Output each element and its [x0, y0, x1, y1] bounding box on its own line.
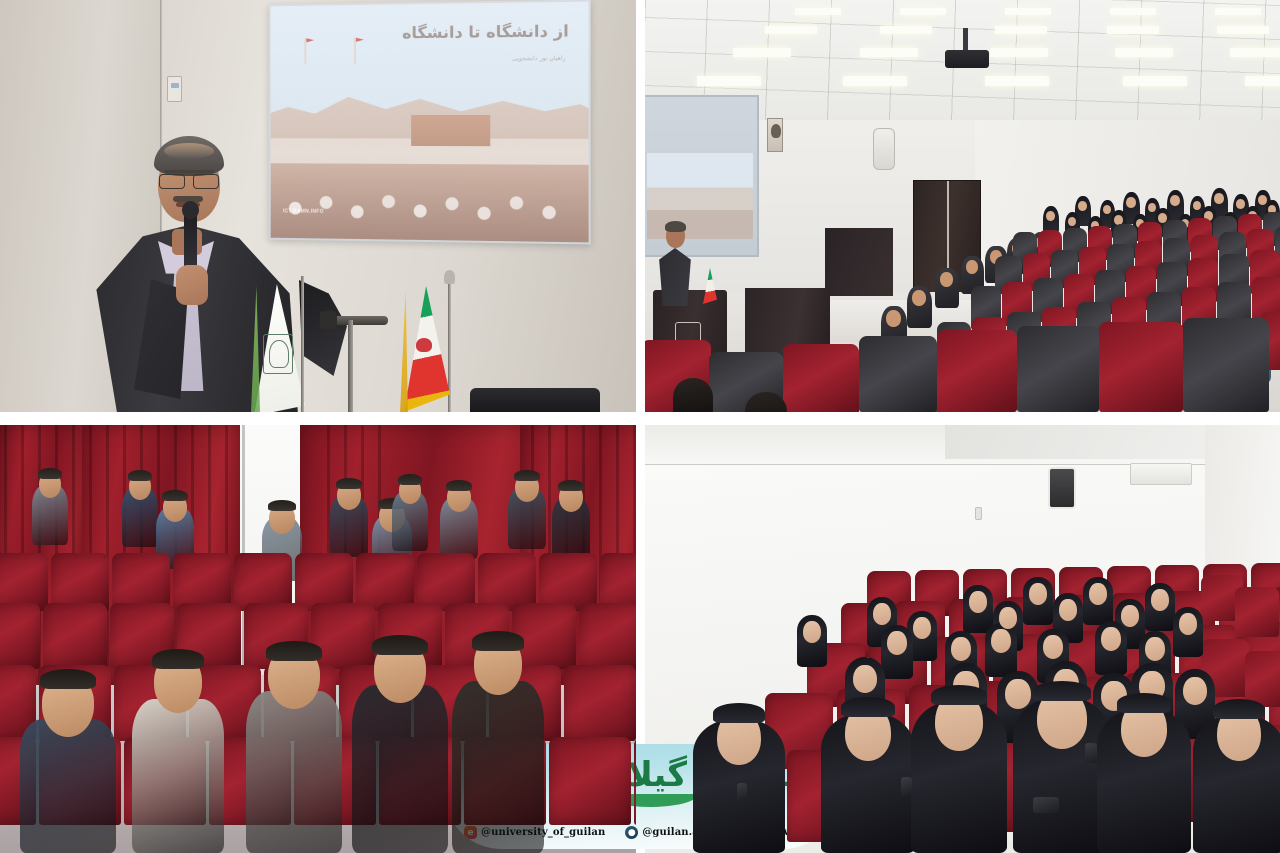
- held-object: [1033, 797, 1059, 813]
- attendee-face: [1046, 211, 1055, 221]
- attendee-hair: [266, 641, 322, 661]
- ceiling-light: [990, 48, 1048, 57]
- attendee-face: [1068, 217, 1076, 226]
- slide-flag-icon: [304, 38, 306, 64]
- attendee-face: [1193, 201, 1201, 210]
- attendee-face: [969, 591, 987, 613]
- attendee-hair: [40, 669, 96, 689]
- iran-emblem-icon: [416, 338, 432, 352]
- attendee-head: [673, 378, 713, 412]
- ceiling-light: [880, 26, 932, 34]
- attendee-hair: [336, 478, 362, 489]
- ceiling-light: [900, 8, 946, 15]
- website-icon: ●: [625, 826, 638, 839]
- ceiling-projector: [945, 50, 989, 68]
- photo-bottom-right: [645, 425, 1280, 853]
- seat: [634, 737, 636, 825]
- held-object: [1085, 743, 1097, 763]
- eyeglasses-icon: [158, 174, 220, 187]
- seat: [1235, 587, 1279, 637]
- attendee-headscarf: [841, 697, 895, 717]
- ceiling-light: [795, 8, 841, 15]
- ceiling-light: [1123, 76, 1187, 86]
- flag-pole: [301, 276, 304, 412]
- attendee-face: [1236, 199, 1245, 209]
- seat: [549, 737, 631, 825]
- wall-portrait: [767, 118, 783, 152]
- attendee-face: [873, 603, 891, 625]
- ceiling-light: [995, 26, 1047, 34]
- ceiling-light: [697, 76, 761, 86]
- ceiling-light: [765, 26, 817, 34]
- attendee-body: [452, 681, 544, 853]
- attendee-face: [1089, 583, 1107, 605]
- attendee-hair: [38, 468, 62, 479]
- attendee-face: [1148, 203, 1156, 212]
- seat: [937, 330, 1017, 412]
- slide-subtitle: راهیان نور دانشجویی: [389, 55, 566, 63]
- slide-flag-icon: [354, 38, 356, 64]
- attendee-face: [803, 621, 821, 643]
- attendee-headscarf: [1117, 693, 1171, 713]
- attendee-hair: [398, 474, 422, 485]
- attendee-headscarf: [1213, 699, 1265, 719]
- seat: [579, 603, 636, 669]
- attendee-hair: [472, 631, 524, 651]
- attendee-hair: [446, 480, 472, 491]
- attendee-body: [132, 699, 224, 853]
- wall-sensor: [975, 507, 982, 520]
- seat: [783, 344, 859, 412]
- photo-top-right: [645, 0, 1280, 412]
- wall-speaker: [873, 128, 895, 170]
- attendee-hair: [268, 500, 296, 511]
- attendee-face: [1005, 679, 1031, 709]
- attendee-face: [1258, 195, 1267, 205]
- attendee-hair: [558, 480, 584, 491]
- university-emblem-icon: [263, 334, 293, 374]
- iran-flag: [398, 272, 458, 412]
- attendee-face: [853, 665, 877, 693]
- attendee-face: [1043, 635, 1063, 659]
- attendee-face: [1183, 677, 1207, 705]
- attendee-body: [20, 719, 116, 853]
- seat: [1099, 322, 1183, 412]
- attendee-face: [1179, 613, 1197, 635]
- ceiling-light: [1005, 8, 1051, 15]
- attendee-face: [991, 629, 1011, 653]
- attendee-hair: [152, 649, 204, 669]
- attendee-face: [1078, 201, 1087, 211]
- ceiling-light: [1110, 8, 1156, 15]
- seat: [0, 603, 40, 669]
- attendee-face: [951, 637, 971, 661]
- seat: [564, 665, 636, 741]
- held-object: [737, 783, 747, 801]
- attendee-face: [999, 607, 1017, 629]
- equipment-cabinet: [825, 228, 893, 296]
- university-flag: [249, 276, 317, 412]
- attendee-face: [1151, 589, 1169, 611]
- attendee-headscarf: [931, 685, 987, 705]
- ceiling-light: [1217, 26, 1269, 34]
- microphone-stand: [320, 300, 392, 412]
- iran-flag-small: [701, 262, 721, 310]
- attendee-face: [1145, 637, 1165, 661]
- attendee-face: [1121, 605, 1139, 627]
- attendee-headscarf: [1033, 681, 1091, 701]
- attendee-face: [966, 260, 978, 274]
- attendee-face: [1101, 627, 1121, 651]
- ceiling-light: [985, 76, 1049, 86]
- attendee-hair: [514, 470, 540, 481]
- ceiling-light: [843, 76, 907, 86]
- chair-foreground: [470, 388, 600, 412]
- slide-building: [411, 115, 491, 146]
- attendee-headscarf: [713, 703, 765, 723]
- ceiling-light: [1230, 48, 1280, 57]
- attendee-face: [887, 631, 907, 655]
- attendee-face: [913, 617, 931, 639]
- speaker-eyebrows: [164, 170, 214, 173]
- ceiling-light: [1115, 48, 1173, 57]
- light-switch: [167, 76, 182, 102]
- projector-mount: [963, 28, 968, 52]
- ceiling-light: [1107, 26, 1159, 34]
- stand-knob: [320, 311, 337, 329]
- attendee-face: [1103, 205, 1111, 214]
- attendee-face: [1126, 197, 1136, 208]
- attendee-hair: [162, 490, 188, 501]
- seat: [859, 336, 937, 412]
- attendee-body: [352, 685, 448, 853]
- attendee-hair: [128, 470, 152, 481]
- seat: [43, 603, 107, 669]
- slide-title: از دانشگاه تا دانشگاه: [370, 21, 569, 42]
- seat: [1017, 326, 1099, 412]
- stand-bar: [348, 320, 353, 412]
- attendee-face: [1029, 583, 1047, 605]
- speaker-figure: [653, 222, 697, 306]
- slide-crowd: [271, 164, 589, 243]
- photo-top-left: از دانشگاه تا دانشگاه راهیان نور دانشجوی…: [0, 0, 636, 412]
- wall-speaker: [1048, 467, 1076, 509]
- projected-slide: از دانشگاه تا دانشگاه راهیان نور دانشجوی…: [271, 2, 589, 243]
- attendee-face: [1059, 599, 1077, 621]
- held-object: [901, 777, 912, 796]
- flag-finial: [444, 270, 455, 284]
- seat: [1183, 318, 1269, 412]
- flag-fringe: [400, 290, 408, 412]
- photo-collage: از دانشگاه تا دانشگاه راهیان نور دانشجوی…: [0, 0, 1280, 853]
- attendee-face: [912, 290, 926, 306]
- speaker-hand: [176, 265, 208, 305]
- projection-screen: از دانشگاه تا دانشگاه راهیان نور دانشجوی…: [269, 0, 591, 244]
- ceiling-light: [1245, 76, 1280, 86]
- seat: [311, 603, 375, 669]
- attendee-body: [246, 691, 342, 853]
- photo-bottom-left: [0, 425, 636, 853]
- attendee-face: [1214, 193, 1224, 204]
- attendee-face: [886, 310, 901, 327]
- air-conditioner: [1130, 463, 1192, 485]
- flag-green-edge: [251, 286, 260, 412]
- attendee-hair: [372, 635, 428, 655]
- ceiling-light: [1215, 8, 1261, 15]
- ceiling-light: [733, 48, 791, 57]
- speaker-head: [666, 224, 685, 248]
- speaker-suit: [657, 248, 693, 306]
- attendee-face: [1170, 195, 1180, 206]
- ceiling-light: [860, 48, 918, 57]
- seat: [1245, 651, 1280, 707]
- attendee-face: [940, 272, 953, 287]
